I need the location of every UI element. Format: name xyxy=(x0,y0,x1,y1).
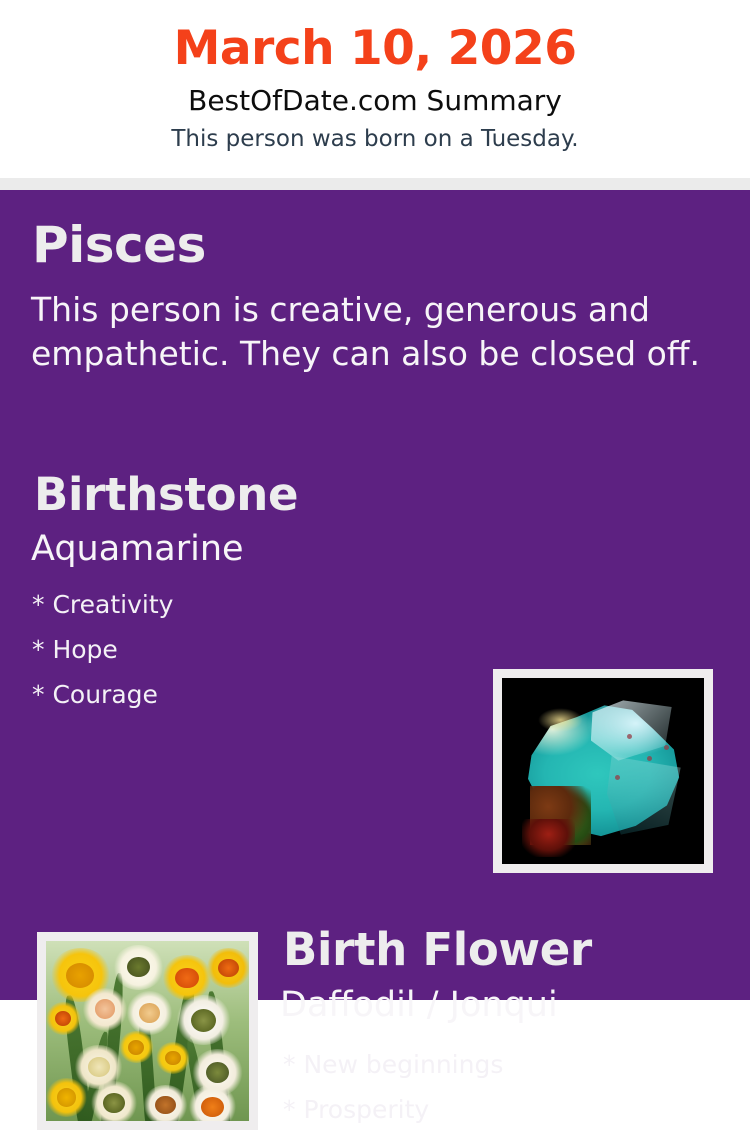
header: March 10, 2026 BestOfDate.com Summary Th… xyxy=(0,0,750,178)
list-item: * Courage xyxy=(32,672,452,717)
birthstone-image-frame xyxy=(493,669,713,873)
daffodil-flowers-icon xyxy=(46,941,249,1121)
content-panel: Pisces This person is creative, generous… xyxy=(0,190,750,1000)
birthstone-name: Aquamarine xyxy=(31,530,244,569)
list-item: * Hope xyxy=(32,627,452,672)
birthday-summary-card: March 10, 2026 BestOfDate.com Summary Th… xyxy=(0,0,750,1000)
list-item: * Prosperity xyxy=(283,1087,713,1132)
aquamarine-crystal-icon xyxy=(502,678,704,864)
birthstone-heading: Birthstone xyxy=(34,471,298,518)
birth-flower-heading: Birth Flower xyxy=(283,926,592,973)
zodiac-sign-heading: Pisces xyxy=(32,219,206,272)
birthstone-trait-list: * Creativity * Hope * Courage xyxy=(32,582,452,717)
birth-flower-name: Daffodil / Jonqui xyxy=(280,986,558,1025)
birth-flower-image-frame xyxy=(37,932,258,1130)
born-day-text: This person was born on a Tuesday. xyxy=(0,126,750,154)
list-item: * Creativity xyxy=(32,582,452,627)
site-subtitle: BestOfDate.com Summary xyxy=(0,84,750,118)
page-title: March 10, 2026 xyxy=(0,24,750,73)
zodiac-description: This person is creative, generous and em… xyxy=(31,288,703,376)
header-divider xyxy=(0,178,750,190)
birth-flower-trait-list: * New beginnings * Prosperity xyxy=(283,1042,713,1132)
list-item: * New beginnings xyxy=(283,1042,713,1087)
